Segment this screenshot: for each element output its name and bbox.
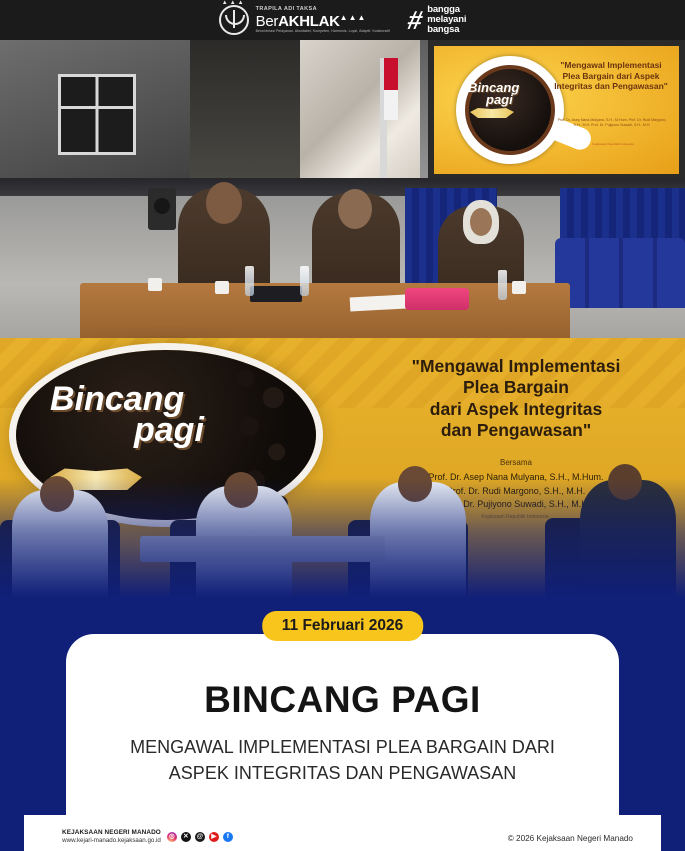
kejaksaan-wings-icon xyxy=(470,108,514,118)
coffee-cup-logo-icon: Bincang pagi xyxy=(456,56,564,164)
backdrop-theme-line-1: "Mengawal Implementasi xyxy=(372,356,660,377)
footer-org-block: KEJAKSAAN NEGERI MANADO www.kejari-manad… xyxy=(62,829,161,845)
water-bottle xyxy=(300,266,309,296)
photo-marble-panel xyxy=(300,38,420,188)
desk-device xyxy=(250,286,302,302)
desk-papers xyxy=(350,295,407,312)
social-links: ◎ ✕ @ ▶ f xyxy=(167,832,233,842)
screen-logo-line-2: pagi xyxy=(486,94,538,106)
screen-logo-text: Bincang pagi xyxy=(468,82,538,107)
backdrop-logo-text: Bincang pagi xyxy=(50,384,204,445)
instagram-glyph: ◎ xyxy=(167,832,177,842)
page-subtitle-line-2: ASPEK INTEGRITAS DAN PENGAWASAN xyxy=(92,760,593,786)
footer-edge-right xyxy=(661,815,685,851)
bangga-wordmark: bangga melayani bangsa xyxy=(427,5,466,35)
backdrop-theme-line-2: Plea Bargain xyxy=(372,377,660,398)
desk-cup xyxy=(512,281,526,294)
berakhlak-main-post: AKHLAK xyxy=(278,13,340,30)
screen-theme-text: "Mengawal Implementasi Plea Bargain dari… xyxy=(551,60,671,92)
bangga-line-3: bangsa xyxy=(427,25,466,35)
x-twitter-icon[interactable]: ✕ xyxy=(181,832,191,842)
indonesian-flag xyxy=(380,58,387,188)
berakhlak-logo: ▲▲▲ TRAPILA ADI TAKSA BerAKHLAK▲▲▲ Beror… xyxy=(219,5,390,35)
desk-cup xyxy=(215,281,229,294)
projector-screen: Bincang pagi "Mengawal Implementasi Plea… xyxy=(428,40,685,180)
threads-glyph: @ xyxy=(195,832,205,842)
panelist-2-head xyxy=(338,189,372,229)
threads-icon[interactable]: @ xyxy=(195,832,205,842)
header-logo-bar: ▲▲▲ TRAPILA ADI TAKSA BerAKHLAK▲▲▲ Beror… xyxy=(0,0,685,40)
projector-screen-content: Bincang pagi "Mengawal Implementasi Plea… xyxy=(434,46,679,174)
panelist-3-head xyxy=(463,200,499,244)
panelist-2 xyxy=(312,193,400,288)
berakhlak-main: BerAKHLAK▲▲▲ xyxy=(256,14,390,29)
photo-blue-chairs xyxy=(555,238,685,308)
water-bottle xyxy=(498,270,507,300)
footer-copyright: © 2026 Kejaksaan Negeri Manado xyxy=(508,834,633,843)
photo-loudspeaker xyxy=(148,188,176,230)
berakhlak-tagline: Berorientasi Pelayanan, Akuntabel, Kompe… xyxy=(256,30,390,33)
water-bottle xyxy=(245,266,254,296)
berakhlak-main-pre: Ber xyxy=(256,13,278,30)
x-glyph: ✕ xyxy=(181,832,191,842)
panelist-3 xyxy=(438,206,524,294)
backdrop-theme-line-3: dari Aspek Integritas xyxy=(372,399,660,420)
seal-stars-icon: ▲▲▲ xyxy=(219,0,249,6)
page-title: BINCANG PAGI xyxy=(66,679,619,721)
kejaksaan-seal-icon: ▲▲▲ xyxy=(219,5,249,35)
facebook-glyph: f xyxy=(223,832,233,842)
panelist-1 xyxy=(178,188,270,288)
screen-footnote: Kejaksaan Republik Indonesia xyxy=(561,142,665,146)
footer-edge-left xyxy=(0,815,24,851)
poster-root: ▲▲▲ TRAPILA ADI TAKSA BerAKHLAK▲▲▲ Beror… xyxy=(0,0,685,851)
bangga-hash-icon: # xyxy=(406,10,425,31)
panel-table-top xyxy=(80,283,570,345)
footer-bar: KEJAKSAAN NEGERI MANADO www.kejari-manad… xyxy=(0,815,685,851)
facebook-icon[interactable]: f xyxy=(223,832,233,842)
berakhlak-arrows-icon: ▲▲▲ xyxy=(340,14,367,22)
desk-pink-bag xyxy=(405,288,469,310)
youtube-glyph: ▶ xyxy=(209,832,219,842)
berakhlak-wordmark: TRAPILA ADI TAKSA BerAKHLAK▲▲▲ Berorient… xyxy=(256,7,390,33)
footer-left-group: KEJAKSAAN NEGERI MANADO www.kejari-manad… xyxy=(62,829,233,845)
footer-org-name: KEJAKSAAN NEGERI MANADO xyxy=(62,829,161,837)
date-badge: 11 Februari 2026 xyxy=(262,611,424,641)
panelist-1-head xyxy=(206,182,242,224)
photo-gradient-overlay xyxy=(0,478,685,598)
bangga-melayani-bangsa-logo: # bangga melayani bangsa xyxy=(408,5,467,35)
event-photo: Bincang pagi "Mengawal Implementasi Plea… xyxy=(0,38,685,598)
photo-window xyxy=(58,74,136,155)
youtube-icon[interactable]: ▶ xyxy=(209,832,219,842)
instagram-icon[interactable]: ◎ xyxy=(167,832,177,842)
backdrop-theme-text: "Mengawal Implementasi Plea Bargain dari… xyxy=(372,356,660,441)
footer-website[interactable]: www.kejari-manado.kejaksaan.go.id xyxy=(62,837,161,845)
desk-cup xyxy=(148,278,162,291)
screen-speaker-names: Prof. Dr. Asep Nana Mulyana, S.H., M.Hum… xyxy=(557,118,667,129)
page-subtitle: MENGAWAL IMPLEMENTASI PLEA BARGAIN DARI … xyxy=(92,734,593,786)
page-subtitle-line-1: MENGAWAL IMPLEMENTASI PLEA BARGAIN DARI xyxy=(92,734,593,760)
